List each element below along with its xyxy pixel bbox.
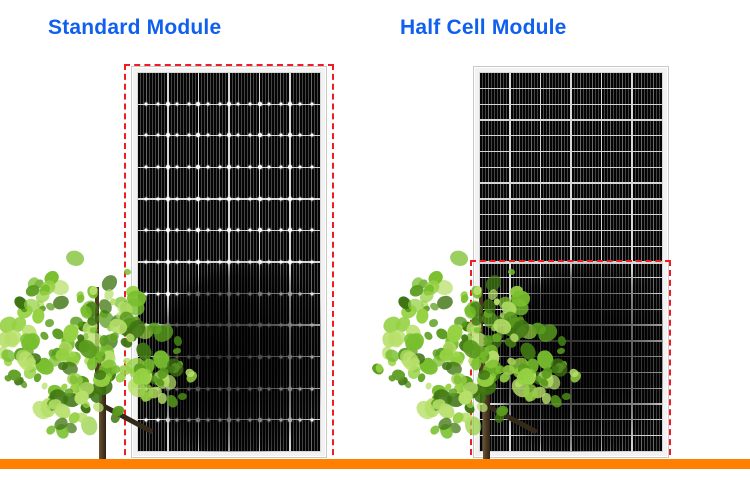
tree-foliage	[48, 394, 56, 401]
tree-foliage	[99, 369, 115, 386]
solar-cell	[602, 310, 631, 324]
tree-foliage	[57, 342, 71, 357]
solar-cell	[480, 184, 509, 198]
tree-foliage	[75, 338, 90, 354]
tree-foliage	[94, 370, 106, 380]
tree-foliage	[85, 285, 98, 300]
tree-foliage	[33, 278, 45, 290]
solar-cell	[169, 200, 198, 230]
solar-cell	[230, 73, 259, 103]
tree-foliage	[26, 357, 36, 367]
solar-cell	[602, 231, 631, 245]
solar-cell	[291, 168, 320, 198]
solar-cell	[602, 294, 631, 308]
tree-foliage	[35, 288, 52, 304]
tree-foliage	[421, 278, 442, 299]
solar-cell	[138, 263, 167, 293]
tree-foliage	[49, 277, 71, 297]
solar-cell	[511, 152, 540, 166]
solar-cell	[541, 326, 570, 340]
tree-foliage	[82, 355, 95, 367]
solar-cell	[541, 200, 570, 214]
tree-foliage	[445, 391, 465, 409]
solar-cell	[541, 342, 570, 356]
solar-cell	[572, 405, 601, 419]
solar-cell	[199, 105, 228, 135]
tree-foliage	[414, 307, 429, 324]
solar-cell	[541, 389, 570, 403]
tree-foliage	[26, 352, 41, 365]
tree-foliage	[430, 385, 455, 409]
tree-foliage	[454, 387, 469, 403]
tree-foliage	[3, 357, 13, 368]
solar-cell	[480, 136, 509, 150]
tree-foliage	[424, 398, 441, 418]
tree-foliage	[404, 346, 418, 358]
tree-foliage	[80, 304, 94, 319]
solar-cell	[169, 326, 198, 356]
tree-foliage	[64, 421, 79, 435]
cell-grid	[479, 72, 663, 452]
solar-cell	[230, 420, 259, 450]
tree-foliage	[85, 324, 95, 334]
tree-foliage	[77, 321, 90, 333]
tree-foliage	[41, 269, 61, 288]
tree-foliage	[423, 304, 432, 312]
tree-foliage	[59, 334, 76, 353]
tree-foliage	[65, 370, 85, 388]
tree-foliage	[68, 381, 81, 393]
solar-cell	[633, 215, 662, 229]
solar-cell	[480, 263, 509, 277]
solar-cell	[511, 357, 540, 371]
tree-foliage	[436, 415, 454, 432]
solar-cell	[602, 389, 631, 403]
solar-cell	[572, 121, 601, 135]
tree-foliage	[72, 388, 92, 407]
tree-foliage	[52, 400, 74, 421]
solar-cell	[541, 420, 570, 434]
comparison-figure: Standard Module Half Cell Module	[0, 0, 750, 484]
tree-foliage	[447, 388, 458, 398]
solar-cell	[138, 200, 167, 230]
solar-cell	[633, 357, 662, 371]
tree-foliage	[85, 313, 101, 329]
tree-foliage	[431, 348, 443, 360]
tree-foliage	[88, 284, 99, 296]
tree-foliage	[16, 349, 39, 373]
solar-cell	[480, 342, 509, 356]
solar-cell	[572, 152, 601, 166]
solar-cell	[230, 263, 259, 293]
tree-foliage	[26, 332, 38, 345]
tree-foliage	[408, 336, 425, 351]
tree-foliage	[68, 315, 84, 330]
tree-foliage	[66, 410, 82, 426]
solar-cell	[480, 200, 509, 214]
standard-module-title: Standard Module	[48, 16, 221, 40]
tree-foliage	[75, 374, 90, 387]
solar-cell	[602, 105, 631, 119]
tree-foliage	[449, 370, 469, 388]
tree-foliage	[411, 364, 420, 373]
tree-foliage	[410, 332, 422, 345]
solar-cell	[633, 231, 662, 245]
tree-foliage	[441, 362, 451, 371]
solar-cell	[199, 420, 228, 450]
tree-foliage	[416, 355, 440, 378]
solar-cell	[633, 310, 662, 324]
tree-foliage	[19, 330, 44, 354]
tree-foliage	[448, 350, 466, 366]
solar-cell	[511, 215, 540, 229]
tree-foliage	[88, 342, 98, 352]
tree-foliage	[39, 304, 48, 312]
tree-foliage	[93, 349, 109, 365]
tree-foliage	[14, 347, 33, 368]
tree-foliage	[423, 330, 435, 342]
tree-foliage	[33, 355, 52, 373]
tree-foliage	[402, 330, 422, 350]
tree-foliage	[24, 336, 41, 351]
solar-cell	[511, 231, 540, 245]
solar-cell	[541, 105, 570, 119]
solar-cell	[633, 436, 662, 450]
tree-foliage	[387, 373, 397, 383]
solar-cell	[572, 420, 601, 434]
solar-cell	[511, 184, 540, 198]
solar-cell	[199, 73, 228, 103]
tree-foliage	[102, 288, 116, 303]
tree-foliage	[41, 381, 49, 390]
tree-foliage	[32, 372, 42, 383]
solar-cell	[572, 73, 601, 87]
tree-foliage	[25, 275, 41, 292]
solar-cell	[572, 215, 601, 229]
tree-foliage	[102, 372, 113, 381]
solar-cell	[541, 89, 570, 103]
solar-cell	[602, 326, 631, 340]
tree-foliage	[387, 357, 397, 368]
tree-foliage	[386, 329, 407, 348]
tree-foliage	[75, 293, 86, 304]
solar-cell	[480, 152, 509, 166]
solar-cell	[633, 373, 662, 387]
solar-cell	[602, 436, 631, 450]
tree-foliage	[37, 282, 52, 297]
solar-cell	[572, 389, 601, 403]
tree-foliage	[114, 371, 128, 385]
tree-foliage	[57, 339, 75, 357]
tree-foliage	[51, 294, 70, 311]
tree-foliage	[452, 381, 465, 393]
tree-foliage	[428, 318, 439, 327]
solar-cell	[230, 168, 259, 198]
tree-foliage	[95, 365, 117, 384]
tree-foliage	[12, 346, 28, 363]
tree-foliage	[431, 353, 448, 369]
tree-foliage	[409, 275, 425, 292]
tree-foliage	[46, 385, 71, 409]
tree-foliage	[40, 398, 57, 418]
solar-cell	[572, 136, 601, 150]
solar-cell	[291, 136, 320, 166]
solar-cell	[602, 184, 631, 198]
tree-foliage	[390, 368, 406, 382]
panel-glass	[137, 72, 321, 452]
tree-foliage	[61, 360, 80, 378]
solar-cell	[541, 215, 570, 229]
tree-foliage	[376, 363, 384, 373]
tree-foliage	[0, 361, 2, 376]
solar-cell	[602, 263, 631, 277]
tree-foliage	[75, 290, 85, 301]
solar-cell	[169, 168, 198, 198]
tree-foliage	[87, 388, 104, 405]
solar-cell	[541, 436, 570, 450]
solar-cell	[572, 184, 601, 198]
tree-foliage	[12, 294, 30, 312]
tree-foliage	[387, 330, 404, 349]
solar-cell	[480, 389, 509, 403]
solar-cell	[480, 373, 509, 387]
solar-cell	[602, 121, 631, 135]
solar-cell	[260, 294, 289, 324]
tree-foliage	[383, 347, 401, 365]
tree-foliage	[459, 290, 469, 301]
tree-foliage	[51, 327, 67, 343]
tree-foliage	[79, 382, 95, 396]
tree-foliage	[406, 363, 423, 381]
tree-foliage	[45, 301, 56, 312]
tree-foliage	[39, 330, 51, 342]
tree-foliage	[22, 296, 42, 315]
solar-cell	[230, 136, 259, 166]
tree-foliage	[425, 269, 445, 288]
tree-foliage	[448, 248, 470, 269]
tree-foliage	[459, 293, 470, 304]
ground-bar	[0, 459, 750, 469]
solar-cell	[633, 278, 662, 292]
solar-cell	[480, 294, 509, 308]
solar-cell	[633, 105, 662, 119]
solar-cell	[602, 168, 631, 182]
solar-cell	[511, 105, 540, 119]
tree-foliage	[86, 316, 96, 326]
solar-cell	[199, 263, 228, 293]
solar-cell	[633, 200, 662, 214]
solar-cell	[291, 326, 320, 356]
solar-cell	[199, 294, 228, 324]
solar-cell	[572, 263, 601, 277]
tree-foliage	[114, 406, 124, 416]
tree-foliage	[58, 347, 82, 369]
solar-cell	[138, 294, 167, 324]
tree-foliage	[433, 277, 455, 297]
solar-cell	[480, 89, 509, 103]
solar-cell	[633, 294, 662, 308]
tree-foliage	[459, 411, 474, 425]
tree-foliage	[97, 296, 114, 315]
tree-foliage	[413, 397, 438, 422]
solar-cell	[480, 168, 509, 182]
tree-foliage	[61, 322, 81, 344]
tree-foliage	[80, 336, 88, 345]
solar-cell	[511, 294, 540, 308]
tree-foliage	[20, 303, 29, 313]
panel-glass	[479, 72, 663, 452]
tree-foliage	[86, 329, 106, 348]
tree-foliage	[441, 342, 455, 357]
solar-cell	[633, 136, 662, 150]
tree-foliage	[37, 300, 44, 309]
solar-cell	[291, 420, 320, 450]
tree-foliage	[382, 331, 397, 348]
solar-cell	[230, 389, 259, 419]
tree-foliage	[393, 315, 413, 335]
solar-cell	[511, 263, 540, 277]
solar-cell	[260, 73, 289, 103]
tree-foliage	[79, 317, 99, 337]
tree-foliage	[435, 294, 454, 311]
tree-foliage	[81, 399, 92, 410]
solar-cell	[138, 136, 167, 166]
tree-foliage	[92, 401, 106, 414]
tree-foliage	[12, 375, 25, 387]
tree-foliage	[404, 323, 423, 344]
solar-cell	[291, 231, 320, 261]
solar-cell	[602, 420, 631, 434]
solar-cell	[541, 231, 570, 245]
solar-cell	[260, 326, 289, 356]
tree-foliage	[99, 309, 110, 318]
tree-foliage	[451, 323, 465, 337]
tree-foliage	[448, 421, 463, 435]
solar-cell	[480, 278, 509, 292]
tree-foliage	[73, 338, 92, 356]
tree-foliage	[409, 283, 426, 298]
solar-cell	[260, 105, 289, 135]
solar-cell	[260, 389, 289, 419]
solar-cell	[572, 200, 601, 214]
solar-cell	[138, 168, 167, 198]
tree-foliage	[68, 351, 76, 357]
tree-foliage	[396, 346, 412, 363]
solar-cell	[260, 231, 289, 261]
tree-foliage	[93, 379, 114, 396]
tree-foliage	[99, 359, 114, 377]
solar-cell	[260, 200, 289, 230]
solar-cell	[480, 420, 509, 434]
solar-cell	[541, 152, 570, 166]
tree-foliage	[97, 348, 117, 370]
solar-cell	[633, 326, 662, 340]
tree-foliage	[454, 375, 462, 385]
tree-foliage	[452, 351, 460, 357]
solar-cell	[199, 168, 228, 198]
tree-foliage	[410, 352, 425, 365]
tree-foliage	[19, 379, 28, 389]
tree-foliage	[438, 347, 456, 363]
half-cell-module-panel	[473, 66, 669, 458]
tree-foliage	[428, 424, 441, 437]
tree-foliage	[429, 301, 440, 312]
solar-cell	[169, 389, 198, 419]
solar-cell	[602, 73, 631, 87]
solar-cell	[633, 152, 662, 166]
tree-foliage	[90, 345, 106, 359]
solar-cell	[291, 294, 320, 324]
solar-cell	[199, 136, 228, 166]
solar-cell	[541, 278, 570, 292]
tree-foliage	[92, 372, 110, 387]
solar-cell	[138, 105, 167, 135]
tree-foliage	[371, 361, 386, 376]
solar-cell	[572, 310, 601, 324]
tree-foliage	[2, 329, 23, 348]
solar-cell	[541, 263, 570, 277]
tree-foliage	[459, 338, 474, 354]
tree-foliage	[75, 411, 90, 425]
solar-cell	[511, 373, 540, 387]
solar-cell	[169, 263, 198, 293]
solar-cell	[169, 105, 198, 135]
tree-foliage	[403, 379, 412, 389]
solar-cell	[572, 168, 601, 182]
tree-foliage	[86, 357, 99, 372]
tree-foliage	[3, 373, 13, 383]
tree-foliage	[410, 357, 420, 367]
solar-cell	[602, 278, 631, 292]
tree-foliage	[20, 323, 39, 344]
half-cell-module-title: Half Cell Module	[400, 16, 567, 40]
tree-foliage	[99, 272, 121, 294]
solar-cell	[602, 357, 631, 371]
tree-foliage	[95, 357, 120, 382]
tree-foliage	[64, 343, 71, 351]
tree-foliage	[407, 358, 418, 368]
solar-cell	[199, 231, 228, 261]
solar-cell	[480, 121, 509, 135]
cell-grid	[137, 72, 321, 452]
solar-cell	[541, 294, 570, 308]
tree-foliage	[82, 333, 89, 341]
tree-foliage	[6, 368, 22, 382]
solar-cell	[633, 168, 662, 182]
tree-foliage	[0, 314, 20, 337]
tree-foliage	[396, 375, 409, 387]
tree-foliage	[115, 311, 125, 319]
solar-cell	[199, 326, 228, 356]
solar-cell	[541, 73, 570, 87]
solar-cell	[138, 389, 167, 419]
solar-cell	[633, 342, 662, 356]
solar-cell	[260, 420, 289, 450]
solar-cell	[230, 357, 259, 387]
solar-cell	[511, 326, 540, 340]
solar-cell	[541, 168, 570, 182]
solar-cell	[511, 121, 540, 135]
solar-cell	[169, 294, 198, 324]
solar-cell	[480, 231, 509, 245]
solar-cell	[260, 263, 289, 293]
tree-foliage	[90, 289, 99, 298]
solar-cell	[572, 247, 601, 261]
tree-foliage	[3, 330, 20, 349]
tree-foliage	[464, 336, 472, 345]
solar-cell	[511, 73, 540, 87]
tree-foliage	[417, 355, 436, 373]
